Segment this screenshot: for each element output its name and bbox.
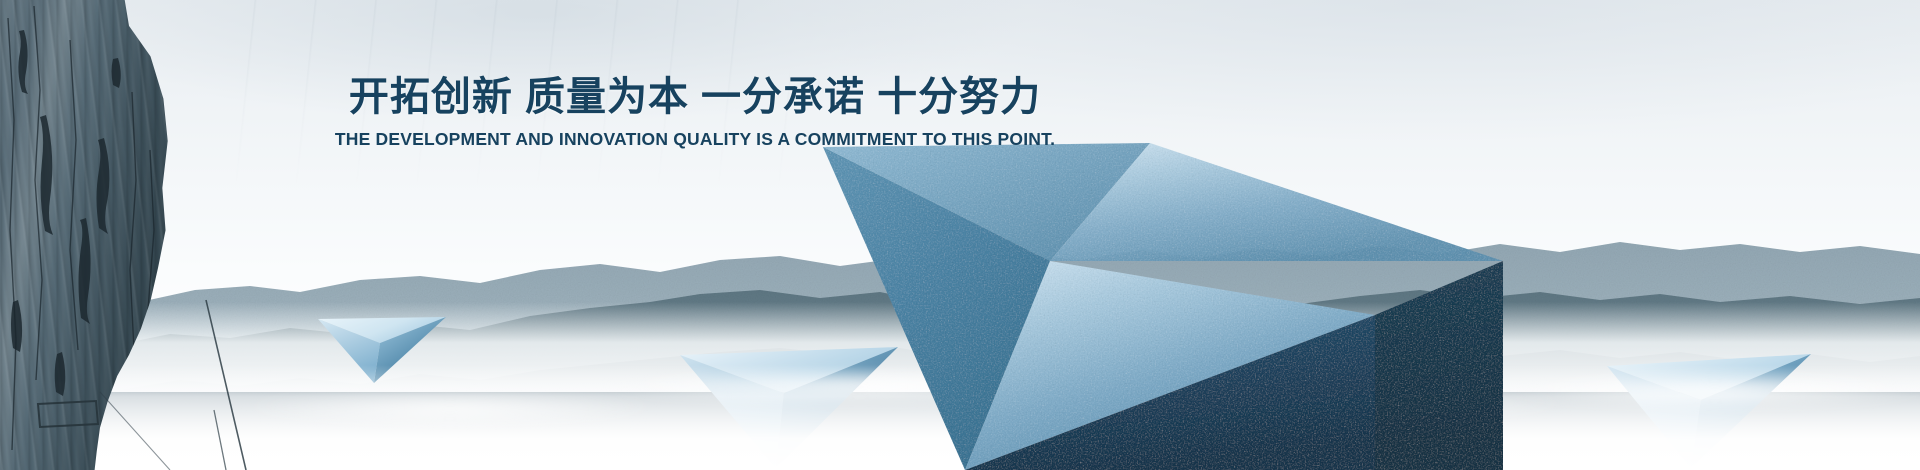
- banner-text-block: 开拓创新 质量为本 一分承诺 十分努力 THE DEVELOPMENT AND …: [0, 76, 1390, 149]
- page-subtitle: THE DEVELOPMENT AND INNOVATION QUALITY I…: [0, 130, 1390, 149]
- page-title: 开拓创新 质量为本 一分承诺 十分努力: [0, 76, 1390, 118]
- hanging-cables: [0, 0, 1920, 470]
- hero-banner: 开拓创新 质量为本 一分承诺 十分努力 THE DEVELOPMENT AND …: [0, 0, 1920, 470]
